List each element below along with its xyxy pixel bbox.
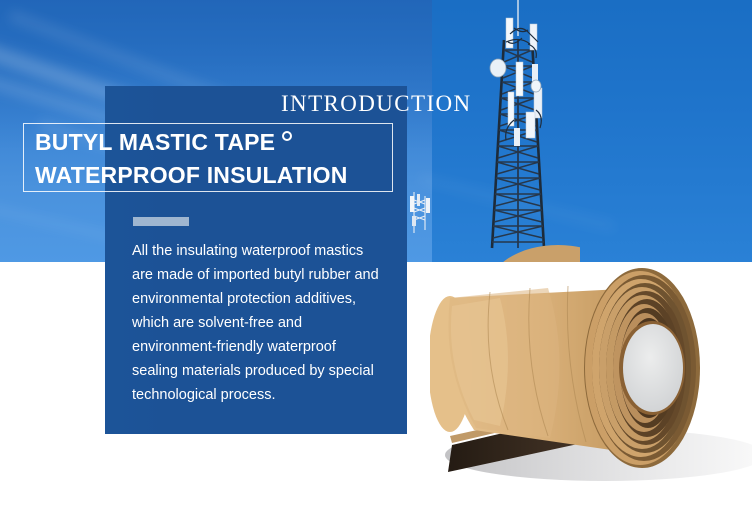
accent-bar [133,217,189,226]
introduction-banner: INTRODUCTION BUTYL MASTIC TAPE WATERPROO… [0,0,752,510]
eyebrow-heading: INTRODUCTION [281,91,472,117]
description-line: environment-friendly waterproof [132,335,384,359]
telecom-tower-icon [470,0,580,262]
title-line-1-text: BUTYL MASTIC TAPE [35,129,275,155]
title-line-2: WATERPROOF INSULATION [35,159,395,192]
description-line: All the insulating waterproof mastics [132,239,384,263]
page-title: BUTYL MASTIC TAPE WATERPROOF INSULATION [35,126,395,192]
secondary-antenna-icon [405,190,439,235]
description-line: are made of imported butyl rubber and [132,263,384,287]
description-line: technological process. [132,383,384,407]
description-text: All the insulating waterproof mastics ar… [132,239,384,407]
ring-symbol-icon [282,131,292,141]
title-line-1: BUTYL MASTIC TAPE [35,126,395,159]
description-line: environmental protection additives, [132,287,384,311]
description-line: sealing materials produced by special [132,359,384,383]
description-line: which are solvent-free and [132,311,384,335]
butyl-tape-roll-image [430,240,752,510]
